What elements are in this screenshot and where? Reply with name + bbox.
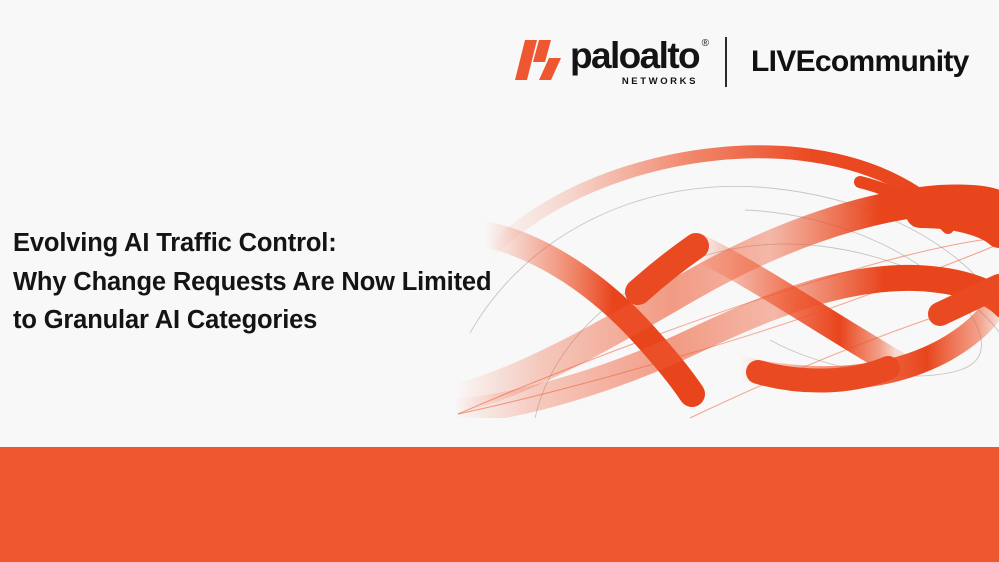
lockup-divider	[725, 37, 727, 87]
livecommunity-wordmark: LIVEcommunity	[751, 46, 969, 78]
registered-trademark-icon: ®	[702, 39, 709, 49]
title-line-1: Evolving AI Traffic Control:	[13, 224, 533, 263]
brand-logo-lockup: paloalto® NETWORKS LIVEcommunity	[515, 36, 969, 88]
bottom-accent-band	[0, 447, 999, 562]
brand-subword: NETWORKS	[622, 76, 698, 87]
title-line-3: to Granular AI Categories	[13, 301, 533, 340]
palo-alto-networks-logo: paloalto® NETWORKS	[515, 37, 699, 87]
palo-alto-wordmark: paloalto® NETWORKS	[570, 37, 699, 87]
palo-alto-networks-logo-mark	[515, 40, 561, 80]
page-title: Evolving AI Traffic Control: Why Change …	[13, 224, 533, 340]
brand-word-text: paloalto	[570, 35, 699, 76]
banner: paloalto® NETWORKS LIVEcommunity Evolvin…	[0, 0, 999, 562]
title-line-2: Why Change Requests Are Now Limited	[13, 263, 533, 302]
brand-word: paloalto®	[570, 37, 699, 75]
